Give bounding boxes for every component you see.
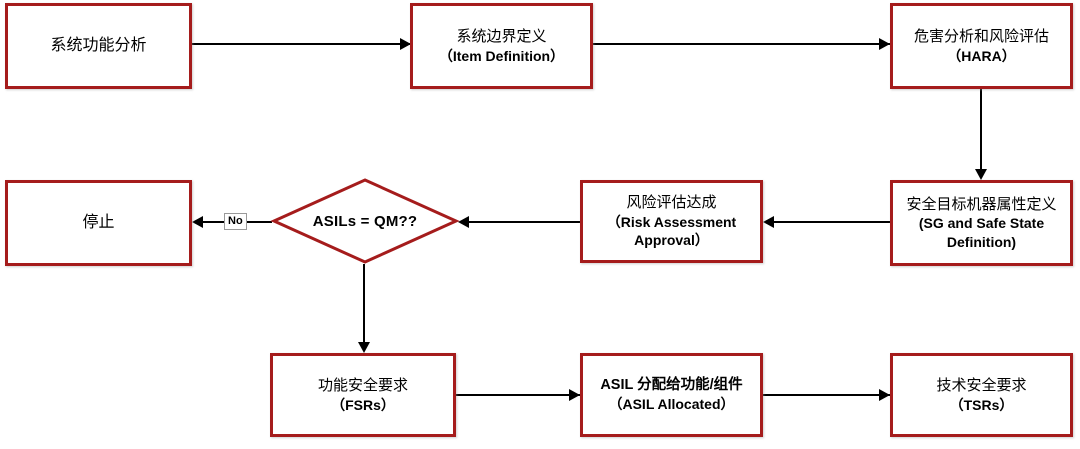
node-label-line2: （FSRs） (273, 396, 453, 414)
node-label-line1: 风险评估达成 (583, 193, 760, 213)
edge-arrowhead-safety-goal-definition-to-risk-assessment-approval (763, 216, 774, 228)
node-label-line1: 系统边界定义 (413, 27, 590, 47)
node-label-line1: 危害分析和风险评估 (893, 27, 1070, 47)
node-label-line1: 安全目标机器属性定义 (893, 195, 1070, 215)
node-label-line1: ASIL 分配给功能/组件 (583, 376, 760, 395)
node-safety-goal-definition[interactable]: 安全目标机器属性定义 (SG and Safe State Definition… (890, 180, 1073, 266)
node-label-line2: （ASIL Allocated） (583, 395, 760, 413)
node-risk-assessment-approval[interactable]: 风险评估达成 （Risk Assessment Approval） (580, 180, 763, 263)
node-label-line2: （TSRs） (893, 396, 1070, 414)
node-label-line1: 停止 (8, 212, 189, 233)
edge-line-fsrs-to-asil-allocated (456, 394, 580, 396)
edge-line-asil-allocated-to-tsrs (763, 394, 890, 396)
edge-arrowhead-asil-allocated-to-tsrs (879, 389, 890, 401)
edge-arrowhead-risk-assessment-approval-to-asil-decision (458, 216, 469, 228)
node-tsrs[interactable]: 技术安全要求 （TSRs） (890, 353, 1073, 437)
node-asil-decision[interactable]: ASILs = QM?? (272, 178, 458, 264)
node-label-line2: （Risk Assessment Approval） (583, 213, 760, 250)
node-system-function-analysis[interactable]: 系统功能分析 (5, 3, 192, 89)
flowchart-canvas: 系统功能分析 系统边界定义 （Item Definition） 危害分析和风险评… (0, 0, 1080, 449)
node-label-line1: 系统功能分析 (8, 35, 189, 56)
edge-arrowhead-asil-decision-to-stop (192, 216, 203, 228)
edge-arrowhead-hara-to-safety-goal-definition (975, 169, 987, 180)
node-label-line2: （HARA） (893, 47, 1070, 65)
node-hara[interactable]: 危害分析和风险评估 （HARA） (890, 3, 1073, 89)
edge-line-item-definition-to-hara (593, 43, 891, 45)
node-label-line1: 技术安全要求 (893, 376, 1070, 396)
node-asil-allocated[interactable]: ASIL 分配给功能/组件 （ASIL Allocated） (580, 353, 763, 437)
node-label-line2: （Item Definition） (413, 47, 590, 65)
edge-line-hara-to-safety-goal-definition (980, 89, 982, 173)
node-stop[interactable]: 停止 (5, 180, 192, 266)
node-label-line2: (SG and Safe State Definition) (893, 214, 1070, 251)
edge-line-asil-decision-to-fsrs (363, 264, 365, 344)
edge-line-safety-goal-definition-to-risk-assessment-approval (771, 221, 890, 223)
edge-label-no: No (224, 213, 247, 230)
node-fsrs[interactable]: 功能安全要求 （FSRs） (270, 353, 456, 437)
edge-arrowhead-fsrs-to-asil-allocated (569, 389, 580, 401)
node-label-line1: 功能安全要求 (273, 376, 453, 396)
edge-arrowhead-asil-decision-to-fsrs (358, 342, 370, 353)
node-item-definition[interactable]: 系统边界定义 （Item Definition） (410, 3, 593, 89)
node-label-line1: ASILs = QM?? (272, 178, 458, 264)
edge-arrowhead-item-definition-to-hara (879, 38, 890, 50)
edge-line-risk-assessment-approval-to-asil-decision (466, 221, 580, 223)
edge-line-system-function-analysis-to-item-definition (192, 43, 414, 45)
